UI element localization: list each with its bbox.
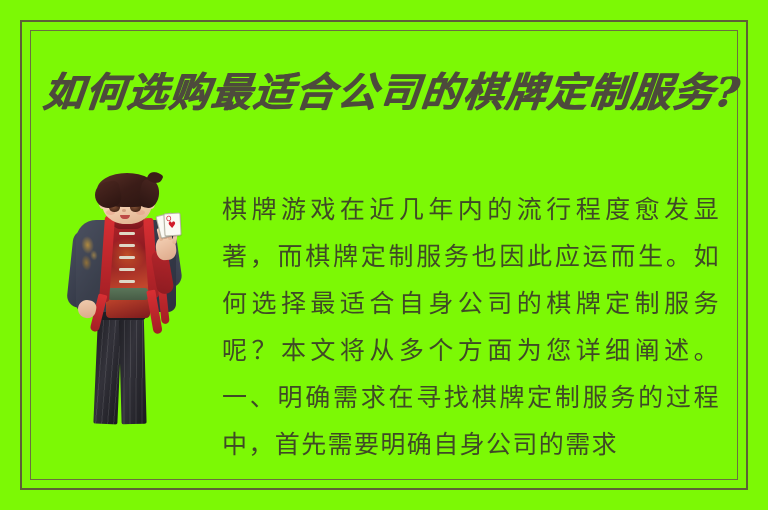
page-title: 如何选购最适合公司的棋牌定制服务?: [41, 58, 728, 120]
nose: [122, 209, 126, 212]
heart-suit-icon: ♥: [168, 222, 177, 231]
frog-button: [119, 256, 135, 259]
trouser-leg-right: [118, 302, 146, 425]
poster-canvas: 如何选购最适合公司的棋牌定制服务? 棋牌游戏在近几年内的流行程度愈发显著，而棋牌…: [0, 0, 768, 510]
pinstripe-pattern-right: [118, 302, 146, 425]
frog-button: [119, 268, 135, 271]
shirt-hem: [108, 288, 148, 300]
article-body: 棋牌游戏在近几年内的流行程度愈发显著，而棋牌定制服务也因此应运而生。如何选择最适…: [222, 186, 720, 468]
frog-button: [119, 280, 135, 283]
article-paragraph: 棋牌游戏在近几年内的流行程度愈发显著，而棋牌定制服务也因此应运而生。如何选择最适…: [222, 186, 720, 468]
character-illustration: Q ♥: [62, 176, 192, 424]
frog-button: [119, 244, 135, 247]
hair-side-right: [138, 179, 162, 210]
frog-button: [119, 232, 135, 235]
